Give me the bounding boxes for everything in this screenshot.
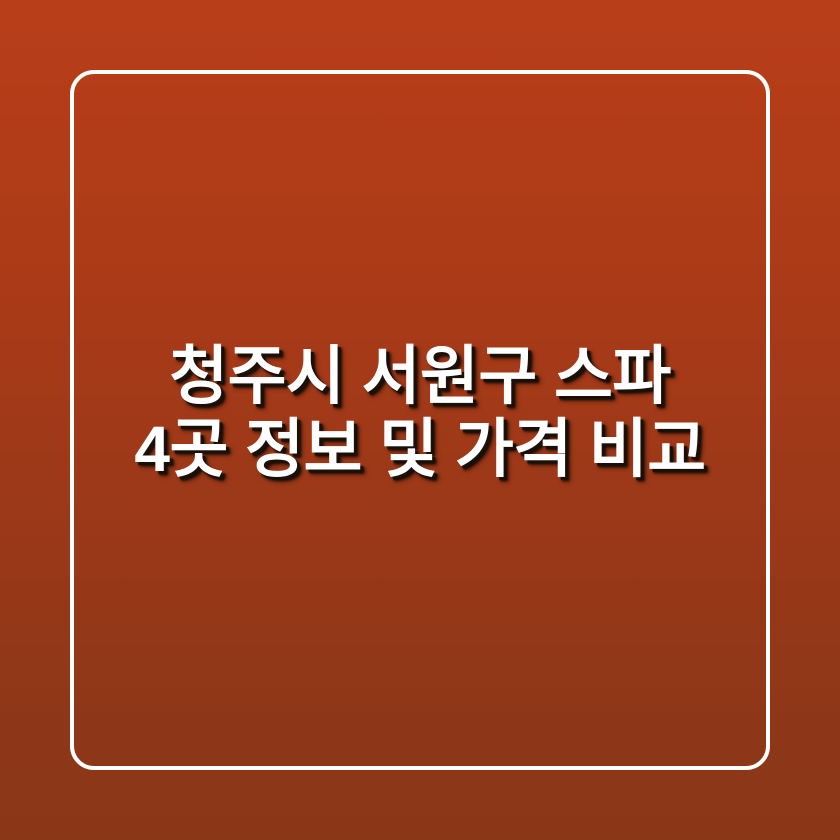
poster-canvas: 청주시 서원구 스파 4곳 정보 및 가격 비교: [0, 0, 840, 840]
headline-line-1: 청주시 서원구 스파: [0, 340, 840, 413]
headline-line-2: 4곳 정보 및 가격 비교: [0, 413, 840, 486]
headline-block: 청주시 서원구 스파 4곳 정보 및 가격 비교: [0, 340, 840, 486]
